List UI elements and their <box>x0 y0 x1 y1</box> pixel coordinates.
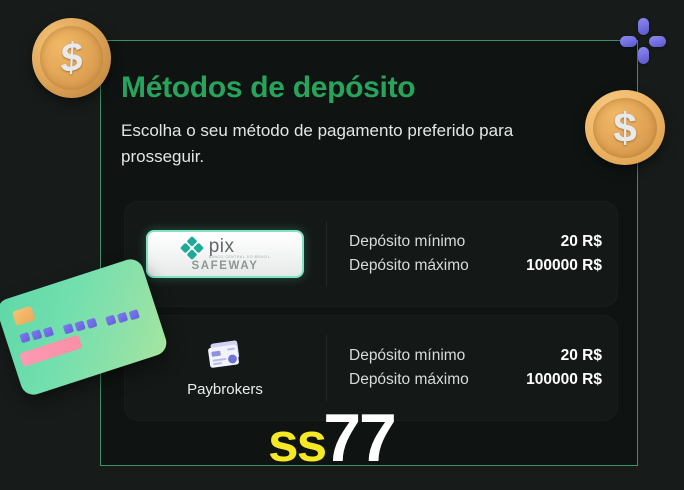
card-dot <box>74 320 85 331</box>
card-dot <box>19 332 30 343</box>
plus-decoration-icon <box>620 18 666 64</box>
card-chip <box>12 306 36 326</box>
limit-row-maximum: Depósito máximo 100000 R$ <box>349 368 602 392</box>
payment-method-pix-safeway[interactable]: pix BANCO CENTRAL DO BRASIL SAFEWAY Depó… <box>124 201 618 307</box>
watermark-ss: ss <box>268 415 325 470</box>
watermark-77: 77 <box>323 404 395 472</box>
coin-icon-right: $ <box>585 90 665 165</box>
ss77-watermark-logo: ss 77 <box>268 404 395 472</box>
limit-value-minimum: 20 R$ <box>561 230 602 254</box>
credit-cards-icon <box>203 339 247 373</box>
card-dot <box>117 312 128 323</box>
pix-tagline: BANCO CENTRAL DO BRASIL <box>209 256 271 259</box>
method-limits-paybrokers: Depósito mínimo 20 R$ Depósito máximo 10… <box>327 344 618 392</box>
pix-diamond-icon <box>180 236 204 260</box>
card-dot <box>43 326 54 337</box>
card-dot <box>86 318 97 329</box>
pix-logo-row: pix BANCO CENTRAL DO BRASIL <box>180 236 271 260</box>
plus-arm-right <box>649 36 666 47</box>
limit-value-minimum: 20 R$ <box>561 344 602 368</box>
pix-safeway-logo[interactable]: pix BANCO CENTRAL DO BRASIL SAFEWAY <box>146 230 304 278</box>
plus-arm-top <box>638 18 649 35</box>
method-name-paybrokers: Paybrokers <box>187 381 263 398</box>
limit-label-maximum: Depósito máximo <box>349 254 469 278</box>
limit-row-minimum: Depósito mínimo 20 R$ <box>349 230 602 254</box>
safeway-brand-label: SAFEWAY <box>191 261 258 273</box>
method-logo-area-pix: pix BANCO CENTRAL DO BRASIL SAFEWAY <box>124 230 326 278</box>
plus-arm-bottom <box>638 47 649 64</box>
card-dot <box>63 323 74 334</box>
limit-value-maximum: 100000 R$ <box>526 254 602 278</box>
pix-wordmark: pix <box>209 237 235 256</box>
screen: Métodos de depósito Escolha o seu método… <box>0 0 684 490</box>
page-subtitle: Escolha o seu método de pagamento prefer… <box>121 118 571 169</box>
card-dot <box>105 315 116 326</box>
page-title: Métodos de depósito <box>121 71 615 104</box>
limit-label-minimum: Depósito mínimo <box>349 230 465 254</box>
plus-arm-left <box>620 36 637 47</box>
coin-dollar-symbol: $ <box>613 104 636 152</box>
card-dot <box>31 329 42 340</box>
card-dot <box>129 309 140 320</box>
limit-row-minimum: Depósito mínimo 20 R$ <box>349 344 602 368</box>
limit-row-maximum: Depósito máximo 100000 R$ <box>349 254 602 278</box>
limit-label-maximum: Depósito máximo <box>349 368 469 392</box>
limit-label-minimum: Depósito mínimo <box>349 344 465 368</box>
payment-methods-list: pix BANCO CENTRAL DO BRASIL SAFEWAY Depó… <box>124 201 618 421</box>
panel-content: Métodos de depósito Escolha o seu método… <box>101 41 637 169</box>
method-limits-pix: Depósito mínimo 20 R$ Depósito máximo 10… <box>327 230 618 278</box>
limit-value-maximum: 100000 R$ <box>526 368 602 392</box>
